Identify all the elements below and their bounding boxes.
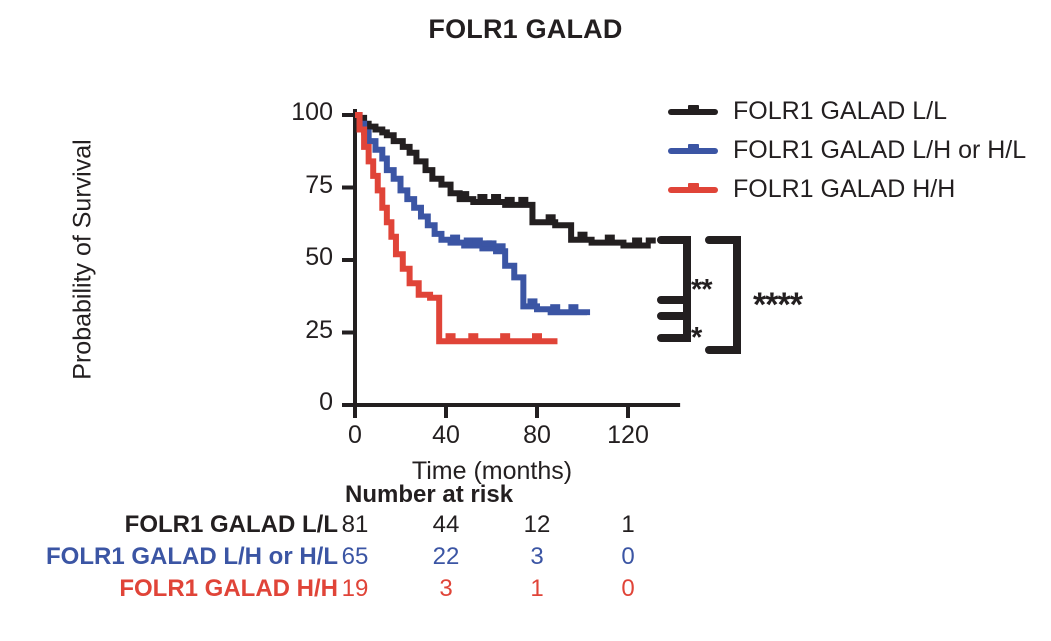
table-row: FOLR1 GALAD L/L8144121 <box>0 511 700 543</box>
risk-row-label: FOLR1 GALAD L/H or H/L <box>46 543 338 571</box>
survival-plot-figure: FOLR1 GALAD Probability of Survival Time… <box>0 0 1051 641</box>
legend-item-label: FOLR1 GALAD H/H <box>733 175 955 204</box>
risk-cell: 3 <box>416 575 476 603</box>
risk-cell: 22 <box>416 543 476 571</box>
y-tick-label: 0 <box>213 388 333 417</box>
x-tick-label: 120 <box>583 421 673 450</box>
risk-cell: 0 <box>598 575 658 603</box>
risk-cell: 1 <box>598 511 658 539</box>
legend-line-icon <box>668 142 718 160</box>
x-tick-label: 80 <box>492 421 582 450</box>
significance-label-black-vs-red: **** <box>753 288 802 322</box>
risk-cell: 19 <box>325 575 385 603</box>
x-tick-label: 40 <box>401 421 491 450</box>
risk-cell: 3 <box>507 543 567 571</box>
y-tick-label: 100 <box>213 98 333 127</box>
y-tick-label: 25 <box>213 316 333 345</box>
legend: FOLR1 GALAD L/LFOLR1 GALAD L/H or H/LFOL… <box>668 92 1026 209</box>
risk-cell: 44 <box>416 511 476 539</box>
legend-item-label: FOLR1 GALAD L/H or H/L <box>733 136 1026 165</box>
y-tick-label: 75 <box>213 171 333 200</box>
risk-cell: 0 <box>598 543 658 571</box>
x-tick-label: 0 <box>310 421 400 450</box>
significance-brackets: ******* <box>655 228 835 368</box>
table-row: FOLR1 GALAD H/H19310 <box>0 575 700 607</box>
legend-item-label: FOLR1 GALAD L/L <box>733 97 947 126</box>
significance-label-black-vs-blue: ** <box>691 276 712 305</box>
risk-cell: 81 <box>325 511 385 539</box>
risk-row-label: FOLR1 GALAD H/H <box>119 575 338 603</box>
risk-row-label: FOLR1 GALAD L/L <box>125 511 338 539</box>
legend-item[interactable]: FOLR1 GALAD H/H <box>668 170 1026 209</box>
y-axis-title: Probability of Survival <box>69 100 98 420</box>
risk-cell: 1 <box>507 575 567 603</box>
risk-cell: 12 <box>507 511 567 539</box>
y-tick-label: 50 <box>213 243 333 272</box>
significance-label-blue-vs-red: * <box>691 324 701 353</box>
legend-item[interactable]: FOLR1 GALAD L/L <box>668 92 1026 131</box>
legend-item[interactable]: FOLR1 GALAD L/H or H/L <box>668 131 1026 170</box>
table-row: FOLR1 GALAD L/H or H/L652230 <box>0 543 700 575</box>
significance-bracket-shapes <box>655 228 835 363</box>
legend-line-icon <box>668 103 718 121</box>
risk-cell: 65 <box>325 543 385 571</box>
risk-table-title: Number at risk <box>345 481 513 509</box>
legend-line-icon <box>668 181 718 199</box>
